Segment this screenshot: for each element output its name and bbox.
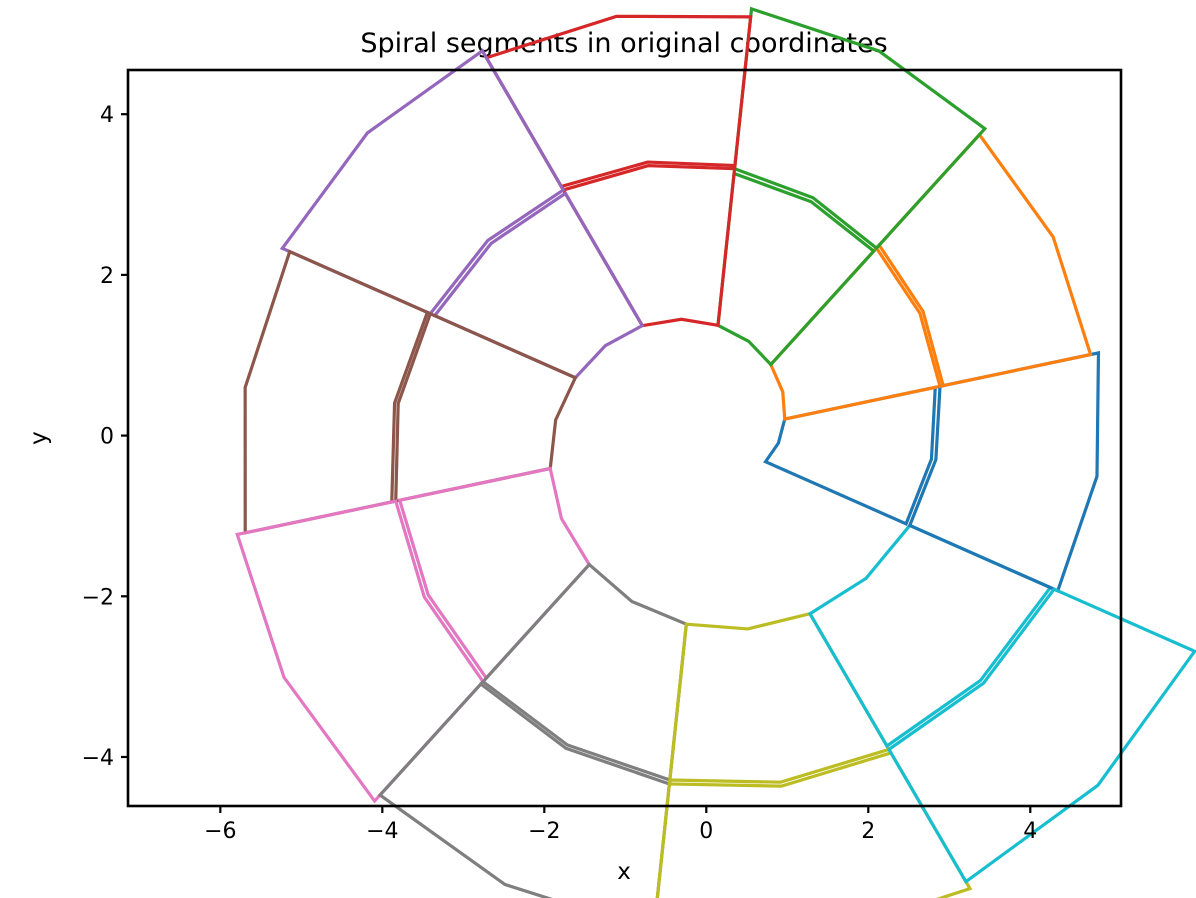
y-tick-label: −2: [82, 585, 114, 610]
figure-background: [0, 0, 1196, 898]
y-tick-label: −4: [82, 746, 114, 771]
x-tick-label: −6: [204, 819, 236, 844]
page-title: Spiral segments in original coordinates: [360, 28, 887, 59]
x-axis-label: x: [617, 859, 631, 885]
x-tick-label: −4: [366, 819, 398, 844]
x-tick-label: −2: [528, 819, 560, 844]
y-tick-label: 0: [100, 425, 114, 450]
x-tick-label: 0: [699, 819, 713, 844]
y-axis-label: y: [26, 431, 52, 445]
x-tick-label: 4: [1023, 819, 1037, 844]
spiral-plot-svg: Spiral segments in original coordinates …: [0, 0, 1196, 898]
y-tick-label: 2: [100, 264, 114, 289]
y-tick-label: 4: [100, 103, 114, 128]
matplotlib-figure: Spiral segments in original coordinates …: [0, 0, 1196, 898]
x-tick-label: 2: [861, 819, 875, 844]
